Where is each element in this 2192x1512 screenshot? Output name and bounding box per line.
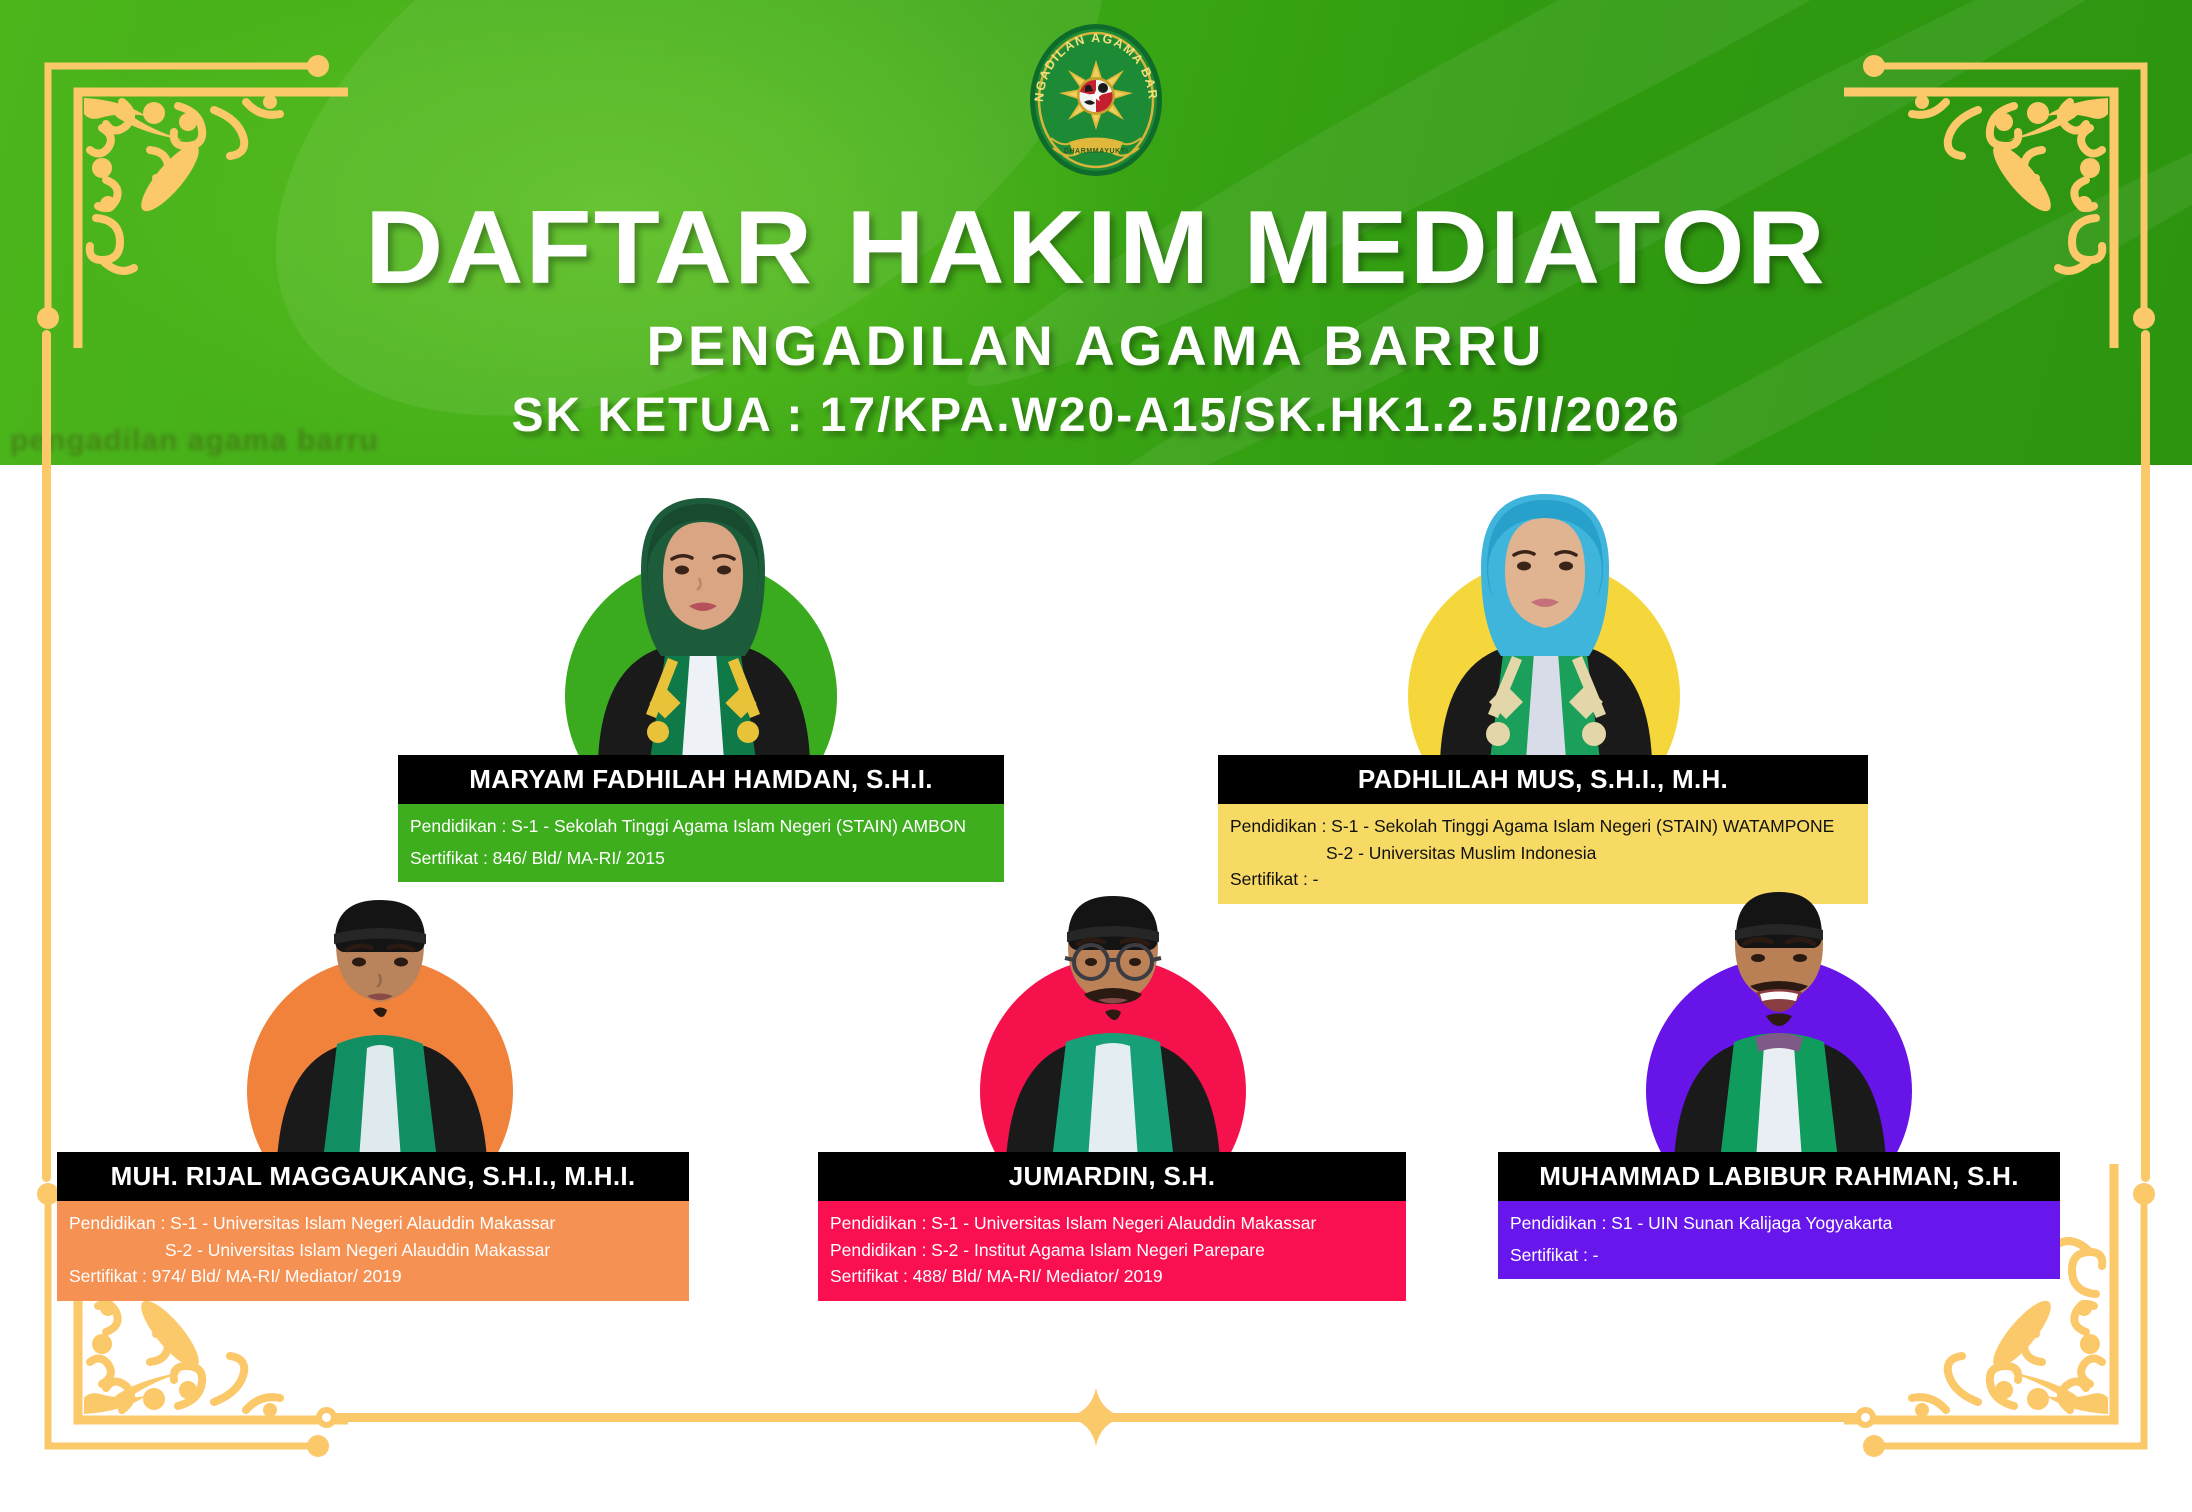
sk-number: SK KETUA : 17/KPA.W20-A15/SK.HK1.2.5/I/2… [0, 392, 2192, 440]
education-row-2: S-2 - Universitas Muslim Indonesia [1230, 840, 1856, 867]
education-row: Pendidikan : S-1 - Universitas Islam Neg… [69, 1210, 677, 1237]
gold-filigree-corner-icon [18, 18, 348, 348]
svg-text:DHARMMAYUKTI: DHARMMAYUKTI [1064, 148, 1129, 155]
certificate-row: Sertifikat : 974/ Bld/ MA-RI/ Mediator/ … [69, 1263, 677, 1290]
education-row-2: S-2 - Universitas Islam Negeri Alauddin … [69, 1237, 677, 1264]
person-info-card: MUHAMMAD LABIBUR RAHMAN, S.H. Pendidikan… [1498, 1152, 2060, 1279]
education-row: Pendidikan : S-1 - Universitas Islam Neg… [830, 1210, 1394, 1237]
person-info-card: JUMARDIN, S.H. Pendidikan : S-1 - Univer… [818, 1152, 1406, 1301]
person-info-card: MARYAM FADHILAH HAMDAN, S.H.I. Pendidika… [398, 755, 1004, 882]
right-border-line [2141, 330, 2150, 1182]
certificate-row: Sertifikat : 846/ Bld/ MA-RI/ 2015 [410, 845, 992, 872]
certificate-row: Sertifikat : 488/ Bld/ MA-RI/ Mediator/ … [830, 1263, 1394, 1290]
certificate-row: Sertifikat : - [1510, 1242, 2048, 1269]
pengadilan-agama-barru-seal-icon: PENGADILAN AGAMA BARRU DHARMMAYUKTI [1017, 20, 1175, 180]
person-info-card: MUH. RIJAL MAGGAUKANG, S.H.I., M.H.I. Pe… [57, 1152, 689, 1301]
person-name: MUH. RIJAL MAGGAUKANG, S.H.I., M.H.I. [57, 1152, 689, 1201]
judge-portrait [1634, 870, 1924, 1160]
person-details: Pendidikan : S-1 - Universitas Islam Neg… [818, 1201, 1406, 1301]
education-row-2: Pendidikan : S-2 - Institut Agama Islam … [830, 1237, 1394, 1264]
person-name: PADHLILAH MUS, S.H.I., M.H. [1218, 755, 1868, 804]
gold-filigree-corner-icon [1844, 18, 2174, 348]
judge-portrait [558, 470, 848, 760]
four-point-star-icon [1067, 1388, 1125, 1446]
person-name: JUMARDIN, S.H. [818, 1152, 1406, 1201]
education-row: Pendidikan : S1 - UIN Sunan Kalijaga Yog… [1510, 1210, 2048, 1237]
person-details: Pendidikan : S1 - UIN Sunan Kalijaga Yog… [1498, 1201, 2060, 1279]
judge-portrait [968, 870, 1258, 1160]
person-name: MARYAM FADHILAH HAMDAN, S.H.I. [398, 755, 1004, 804]
judge-portrait [1400, 470, 1690, 760]
bottom-border-dot-right [1855, 1407, 1876, 1428]
judge-portrait [235, 870, 525, 1160]
education-row: Pendidikan : S-1 - Sekolah Tinggi Agama … [410, 813, 992, 840]
person-details: Pendidikan : S-1 - Universitas Islam Neg… [57, 1201, 689, 1301]
left-border-line [42, 330, 51, 1182]
education-row: Pendidikan : S-1 - Sekolah Tinggi Agama … [1230, 813, 1856, 840]
bottom-border-dot-left [316, 1407, 337, 1428]
person-name: MUHAMMAD LABIBUR RAHMAN, S.H. [1498, 1152, 2060, 1201]
